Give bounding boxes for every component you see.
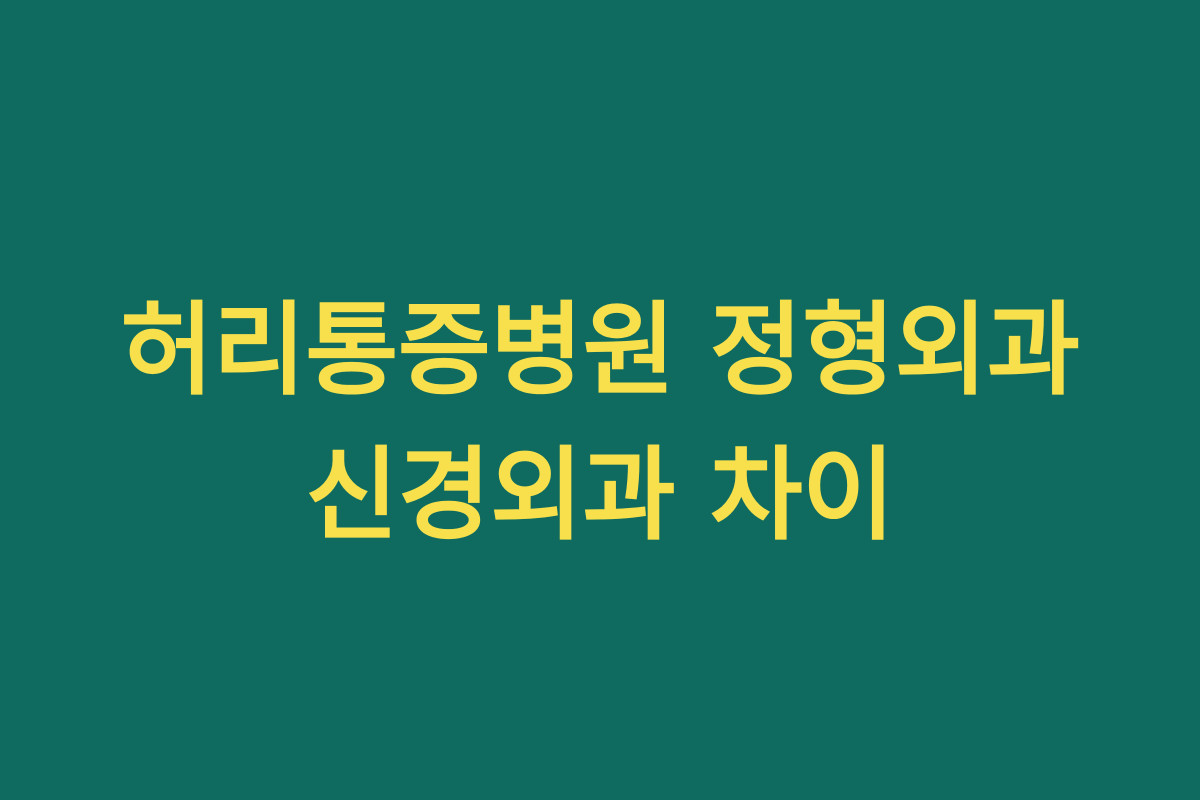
headline-line-2: 신경외과 차이: [305, 423, 894, 568]
headline-block: 허리통증병원 정형외과 신경외과 차이: [0, 23, 1200, 800]
banner-card: 허리통증병원 정형외과 신경외과 차이: [0, 0, 1200, 800]
headline-line-1: 허리통증병원 정형외과: [121, 278, 1080, 423]
